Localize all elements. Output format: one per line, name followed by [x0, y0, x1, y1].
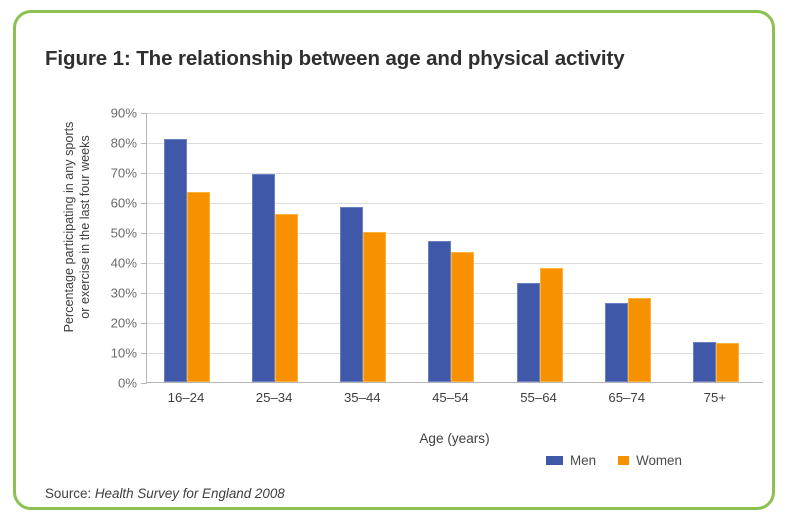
y-axis-tick-label: 30%	[111, 286, 137, 301]
x-axis-tick-label: 25–34	[230, 390, 318, 405]
x-axis-tick-label: 65–74	[583, 390, 671, 405]
legend-swatch-icon-men	[546, 456, 563, 465]
y-axis-tick	[141, 383, 146, 384]
x-axis-tick-label: 75+	[671, 390, 759, 405]
bar-chart: Percentage participating in any sports o…	[16, 13, 778, 513]
y-axis-tick-label: 0%	[118, 376, 137, 391]
y-axis-tick-label: 70%	[111, 166, 137, 181]
x-axis-tick-label: 55–64	[495, 390, 583, 405]
figure-card: Figure 1: The relationship between age a…	[13, 10, 775, 510]
y-axis-tick-label: 90%	[111, 106, 137, 121]
bar-men[interactable]	[252, 174, 275, 383]
plot-area: 90%80%70%60%50%40%30%20%10%0%16–2425–343…	[146, 113, 763, 383]
source-prefix: Source:	[45, 486, 91, 501]
bar-women[interactable]	[716, 343, 739, 382]
legend-label-women: Women	[636, 453, 682, 468]
legend-item-men[interactable]: Men	[546, 453, 596, 468]
bar-group: 45–54	[410, 112, 498, 382]
y-axis-title-line-2: or exercise in the last four weeks	[77, 135, 93, 318]
y-axis-tick-label: 80%	[111, 136, 137, 151]
legend-item-women[interactable]: Women	[618, 453, 682, 468]
x-axis-tick-label: 35–44	[318, 390, 406, 405]
source-note: Source: Health Survey for England 2008	[45, 486, 285, 501]
bar-group: 55–64	[499, 112, 587, 382]
bar-group: 65–74	[587, 112, 675, 382]
y-axis-tick-label: 50%	[111, 226, 137, 241]
bar-men[interactable]	[340, 207, 363, 383]
x-axis-line	[146, 382, 763, 383]
bar-group: 35–44	[322, 112, 410, 382]
legend-swatch-icon-women	[618, 456, 629, 465]
bar-men[interactable]	[428, 241, 451, 382]
bar-women[interactable]	[363, 232, 386, 382]
bar-group: 75+	[675, 112, 763, 382]
bar-women[interactable]	[628, 298, 651, 382]
bar-women[interactable]	[451, 252, 474, 383]
bar-group: 25–34	[234, 112, 322, 382]
source-citation: Health Survey for England 2008	[95, 486, 285, 501]
bar-men[interactable]	[605, 303, 628, 383]
y-axis-tick-label: 40%	[111, 256, 137, 271]
y-axis-title: Percentage participating in any sports o…	[60, 77, 94, 377]
legend-label-men: Men	[570, 453, 596, 468]
bar-women[interactable]	[540, 268, 563, 382]
y-axis-tick-label: 60%	[111, 196, 137, 211]
x-axis-tick-label: 16–24	[142, 390, 230, 405]
x-axis-title: Age (years)	[146, 431, 763, 446]
y-axis-title-line-1: Percentage participating in any sports	[61, 122, 77, 333]
bar-group: 16–24	[146, 112, 234, 382]
bar-men[interactable]	[164, 139, 187, 382]
chart-legend: Men Women	[546, 453, 682, 468]
bar-men[interactable]	[693, 342, 716, 383]
x-axis-tick-label: 45–54	[406, 390, 494, 405]
bar-women[interactable]	[187, 192, 210, 383]
y-axis-tick-label: 20%	[111, 316, 137, 331]
y-axis-tick-label: 10%	[111, 346, 137, 361]
bar-women[interactable]	[275, 214, 298, 382]
bar-men[interactable]	[517, 283, 540, 382]
